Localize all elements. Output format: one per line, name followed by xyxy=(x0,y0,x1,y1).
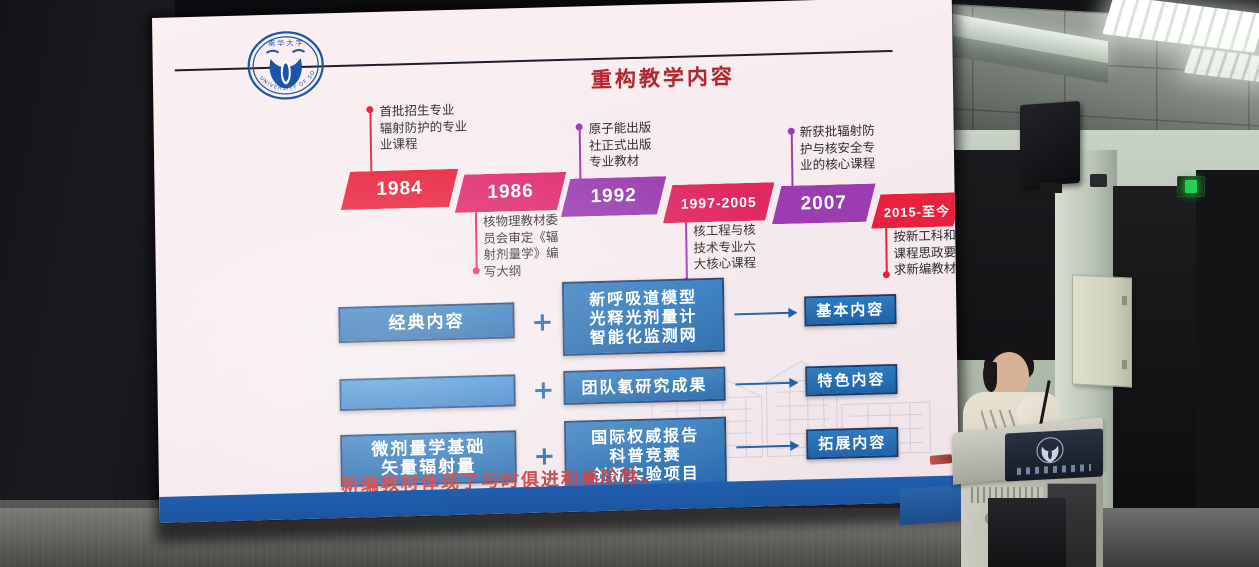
timeline-note-1997-2005: 核工程与核 技术专业六 大核心课程 xyxy=(693,221,799,273)
wall-speaker-icon xyxy=(1020,101,1080,187)
speaker-mount xyxy=(1040,183,1062,193)
timeline-stem-1984 xyxy=(369,109,372,171)
podium-logo-icon xyxy=(1035,435,1065,465)
timeline-stem-1997 xyxy=(685,223,688,281)
wall-socket-icon xyxy=(1090,174,1107,187)
timeline: 首批招生专业 辐射防护的专业 业课程 1984 1986 核物理教材委 员会审定… xyxy=(152,0,956,298)
podium-label-text xyxy=(1017,464,1091,475)
timeline-chevron-2015[interactable]: 2015-至今 xyxy=(871,192,960,228)
timeline-chevron-1992[interactable]: 1992 xyxy=(560,176,667,217)
timeline-chevron-1997-2005[interactable]: 1997-2005 xyxy=(662,182,775,223)
running-man-exit-icon xyxy=(1185,180,1197,193)
timeline-stem-1992 xyxy=(579,126,582,179)
projection-screen: 南 华 大 学 UNIVERSITY OF SOUTH CHINA 重构教学内容… xyxy=(152,0,959,538)
timeline-note-1986: 核物理教材委 员会审定《辐 射剂量学》编 写大纲 xyxy=(483,211,606,280)
row-1-result-box[interactable]: 基本内容 xyxy=(804,294,896,326)
timeline-note-1984: 首批招生专业 辐射防护的专业 业课程 xyxy=(379,101,498,154)
wall-cabinet[interactable] xyxy=(1072,274,1132,387)
timeline-chevron-1984[interactable]: 1984 xyxy=(340,169,459,210)
row-1-arrow-icon xyxy=(734,312,796,316)
timeline-chevron-2007[interactable]: 2007 xyxy=(772,183,877,224)
timeline-stem-1986 xyxy=(475,212,478,270)
row-1-middle-box[interactable]: 新呼吸道模型 光释光剂量计 智能化监测网 xyxy=(562,278,725,356)
lecture-hall-photo: 南 华 大 学 UNIVERSITY OF SOUTH CHINA 重构教学内容… xyxy=(0,0,1259,567)
podium-front-panel xyxy=(1005,428,1103,481)
timeline-dot-1986 xyxy=(473,267,480,274)
timeline-note-2015: 按新工科和 课程思政要 求新编教材 xyxy=(893,227,959,279)
row-1-plus: + xyxy=(531,307,553,338)
cabinet-latch-bottom[interactable] xyxy=(1122,360,1127,369)
row-2-plus: + xyxy=(532,375,554,406)
cabinet-latch-top[interactable] xyxy=(1122,296,1127,305)
floor-cabinet xyxy=(988,498,1066,567)
row-2-left-box[interactable] xyxy=(339,374,515,411)
timeline-stem-2015 xyxy=(885,228,888,274)
timeline-note-2007: 新获批辐射防 护与核安全专 业的核心课程 xyxy=(800,121,919,174)
presenter-hair-side xyxy=(983,362,997,392)
building-watermark-icon xyxy=(641,352,943,480)
row-1-left-box[interactable]: 经典内容 xyxy=(338,302,514,343)
timeline-chevron-1986[interactable]: 1986 xyxy=(454,172,567,213)
timeline-dot-2015 xyxy=(883,271,890,278)
timeline-note-1992: 原子能出版 社正式出版 专业教材 xyxy=(589,118,700,170)
timeline-stem-2007 xyxy=(791,131,794,187)
usb-drive-icon[interactable] xyxy=(930,454,953,465)
presentation-slide: 南 华 大 学 UNIVERSITY OF SOUTH CHINA 重构教学内容… xyxy=(152,0,959,523)
exit-sign xyxy=(1177,176,1205,197)
